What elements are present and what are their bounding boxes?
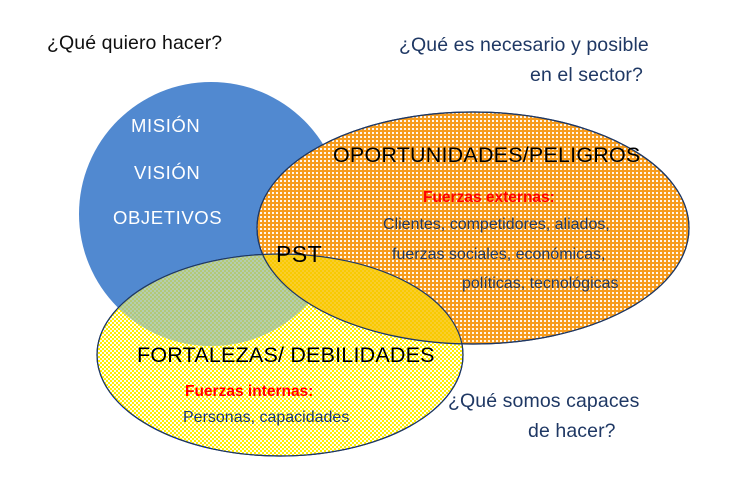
orange-body-line1: Clientes, competidores, aliados, [383, 217, 610, 233]
center-label-pst: PST [276, 243, 322, 266]
yellow-heading: FORTALEZAS/ DEBILIDADES [137, 345, 435, 367]
blue-label-objetivos: OBJETIVOS [113, 209, 222, 228]
blue-label-mision: MISIÓN [131, 117, 200, 136]
question-top-right-line1: ¿Qué es necesario y posible [399, 36, 649, 56]
venn-diagram: ¿Qué quiero hacer? ¿Qué es necesario y p… [0, 0, 731, 482]
yellow-body-line1: Personas, capacidades [183, 410, 349, 426]
orange-heading: OPORTUNIDADES/PELIGROS [333, 145, 640, 167]
orange-body-line2: fuerzas sociales, económicas, [392, 247, 605, 263]
question-bottom-right-line1: ¿Qué somos capaces [448, 392, 639, 412]
question-top-right-line2: en el sector? [530, 66, 643, 86]
question-left: ¿Qué quiero hacer? [47, 34, 222, 54]
question-bottom-right-line2: de hacer? [528, 422, 616, 442]
orange-subheading: Fuerzas externas: [423, 190, 555, 206]
orange-body-line3: políticas, tecnológicas [462, 276, 619, 292]
blue-label-vision: VISIÓN [134, 164, 200, 183]
yellow-subheading: Fuerzas internas: [185, 384, 313, 400]
